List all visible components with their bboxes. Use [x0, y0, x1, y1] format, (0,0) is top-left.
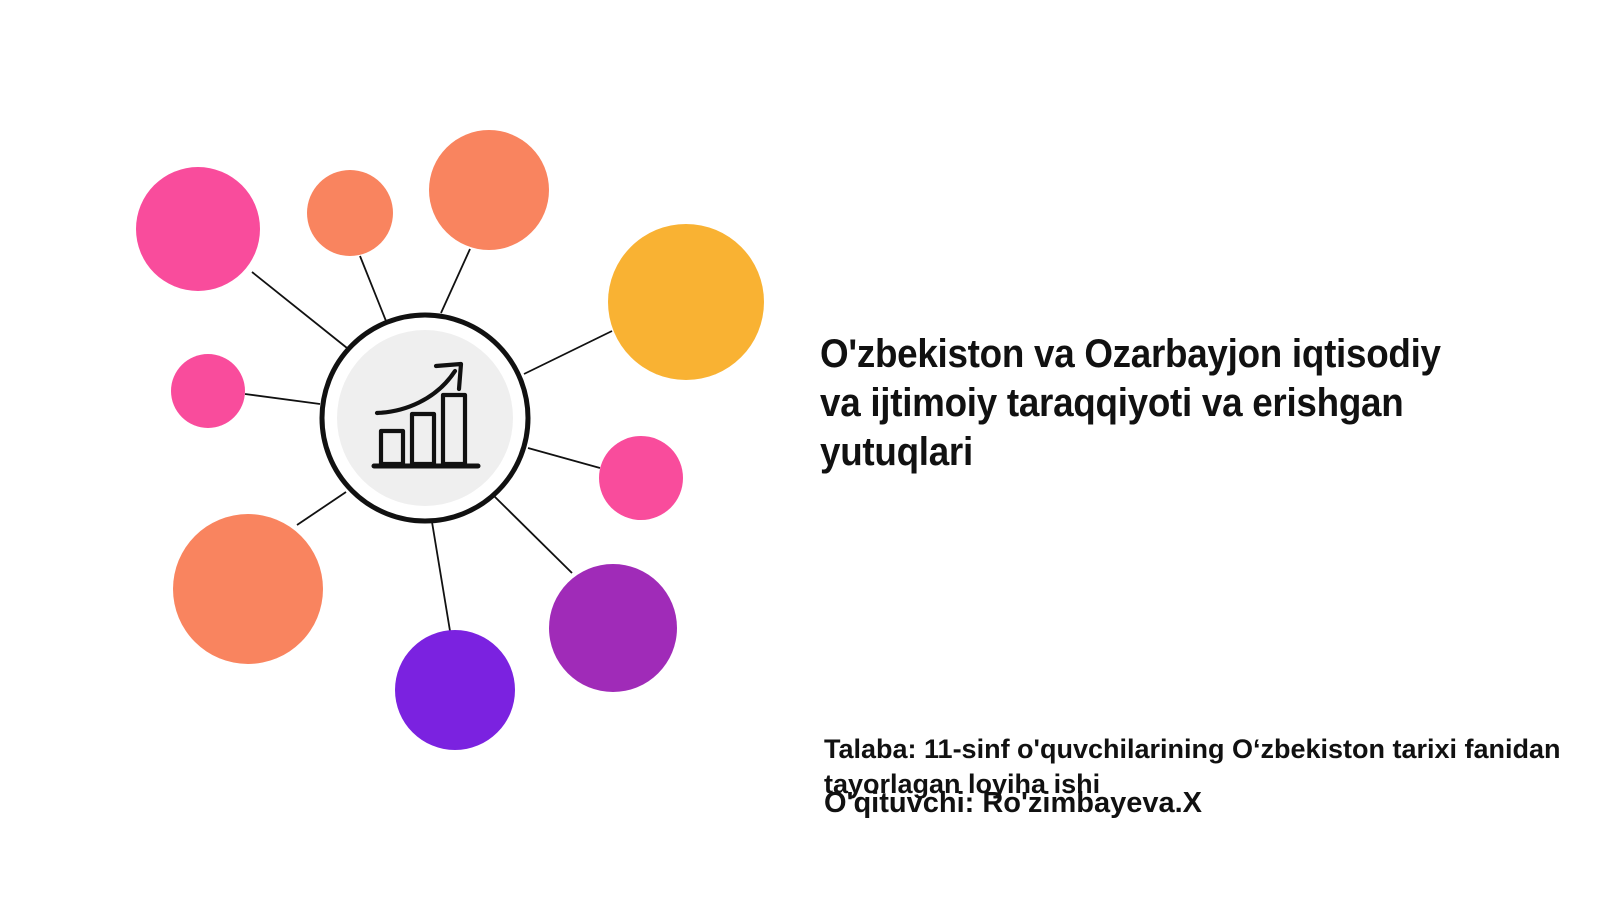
connector-line-3 [441, 249, 470, 313]
connector-line-6 [528, 448, 600, 468]
bubble-pink-right[interactable] [599, 436, 683, 520]
teacher-credit-block: O'qituvchi: Ro'zimbayeva.X [824, 786, 1600, 821]
presentation-slide: O'zbekiston va Ozarbayjon iqtisodiy va i… [0, 0, 1600, 900]
diagram-hub[interactable] [322, 315, 528, 521]
diagram-canvas [0, 0, 800, 900]
bubble-violet-bottom[interactable] [395, 630, 515, 750]
teacher-credit-text: O'qituvchi: Ro'zimbayeva.X [824, 786, 1600, 821]
bubble-salmon-bottom-left[interactable] [173, 514, 323, 664]
bubble-pink-top-left[interactable] [136, 167, 260, 291]
connector-line-4 [524, 331, 612, 374]
connector-line-1 [252, 272, 347, 348]
bubble-salmon-top[interactable] [429, 130, 549, 250]
connector-line-7 [297, 492, 346, 525]
connector-line-2 [360, 256, 386, 321]
radial-bubble-diagram [0, 0, 800, 900]
bubble-salmon-top-small[interactable] [307, 170, 393, 256]
bubble-pink-left-small[interactable] [171, 354, 245, 428]
title-block: O'zbekiston va Ozarbayjon iqtisodiy va i… [820, 330, 1520, 476]
connector-line-5 [245, 394, 320, 404]
connector-line-8 [492, 494, 572, 573]
hub-inner-disc [337, 330, 513, 506]
bubble-purple-bottom[interactable] [549, 564, 677, 692]
page-title: O'zbekiston va Ozarbayjon iqtisodiy va i… [820, 330, 1464, 476]
bubble-yellow-right-top[interactable] [608, 224, 764, 380]
connector-line-9 [432, 522, 450, 631]
